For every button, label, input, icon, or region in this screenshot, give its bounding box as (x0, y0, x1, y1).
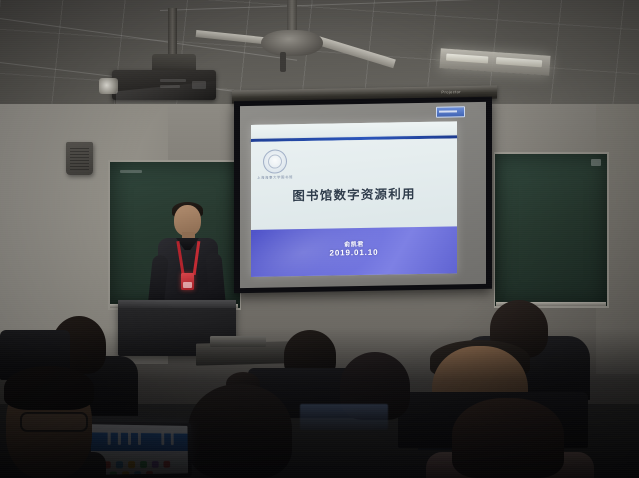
tablet-screen (300, 404, 388, 430)
app-icon[interactable] (163, 461, 170, 468)
projection-screen: 上海海事大学图书馆 图书馆数字资源利用 俞凯君 2019.01.10 (240, 102, 486, 288)
slide-body: 上海海事大学图书馆 图书馆数字资源利用 (251, 138, 457, 230)
projector-vent (192, 81, 206, 89)
eyeglasses-icon (20, 412, 88, 432)
projector-vent (160, 85, 180, 88)
app-icon[interactable] (140, 461, 147, 468)
chalk-mark (591, 159, 601, 166)
audience-hair (4, 366, 94, 410)
slide-title: 图书馆数字资源利用 (251, 182, 457, 205)
audience-head-center (188, 384, 292, 478)
wall-speaker (66, 142, 93, 175)
laptop-bar-mark (128, 431, 131, 445)
ceiling-projector (112, 70, 216, 100)
chalk-mark (120, 170, 142, 173)
laptop-bar-mark (171, 431, 174, 445)
projector-osd-indicator (436, 106, 465, 118)
app-icon[interactable] (116, 461, 123, 468)
laptop-bar-mark (138, 431, 141, 445)
presenter-id-badge (181, 273, 194, 290)
housing-brand-label: Projector (441, 89, 461, 94)
app-icon[interactable] (128, 461, 135, 468)
app-icon[interactable] (110, 471, 117, 475)
laptop-bar-mark (161, 431, 164, 445)
projector-vent (160, 79, 186, 82)
university-wordmark: 上海海事大学图书馆 (255, 174, 295, 180)
audience-head-pink-coat-woman (452, 398, 564, 478)
laptop-bar-mark (108, 431, 111, 445)
app-icon[interactable] (152, 461, 159, 468)
slide-footer-band: 俞凯君 2019.01.10 (251, 226, 457, 277)
podium-top-surface (118, 300, 236, 308)
lecture-hall-photo: Projector 上海海事大学图书馆 图书馆数字资源利用 俞凯君 2019.0… (0, 0, 639, 478)
fan-hub (261, 30, 323, 56)
fan-stem (280, 52, 286, 72)
projector-mount-pole (168, 8, 177, 60)
chalkboard-right (494, 152, 609, 308)
laptop-bar-mark (118, 431, 121, 445)
light-tube (446, 54, 488, 64)
desk-equipment (210, 336, 266, 347)
light-tube (496, 57, 542, 67)
projector-lens-icon (99, 78, 118, 94)
powerpoint-slide: 上海海事大学图书馆 图书馆数字资源利用 俞凯君 2019.01.10 (251, 121, 457, 277)
university-emblem-icon (263, 149, 287, 173)
